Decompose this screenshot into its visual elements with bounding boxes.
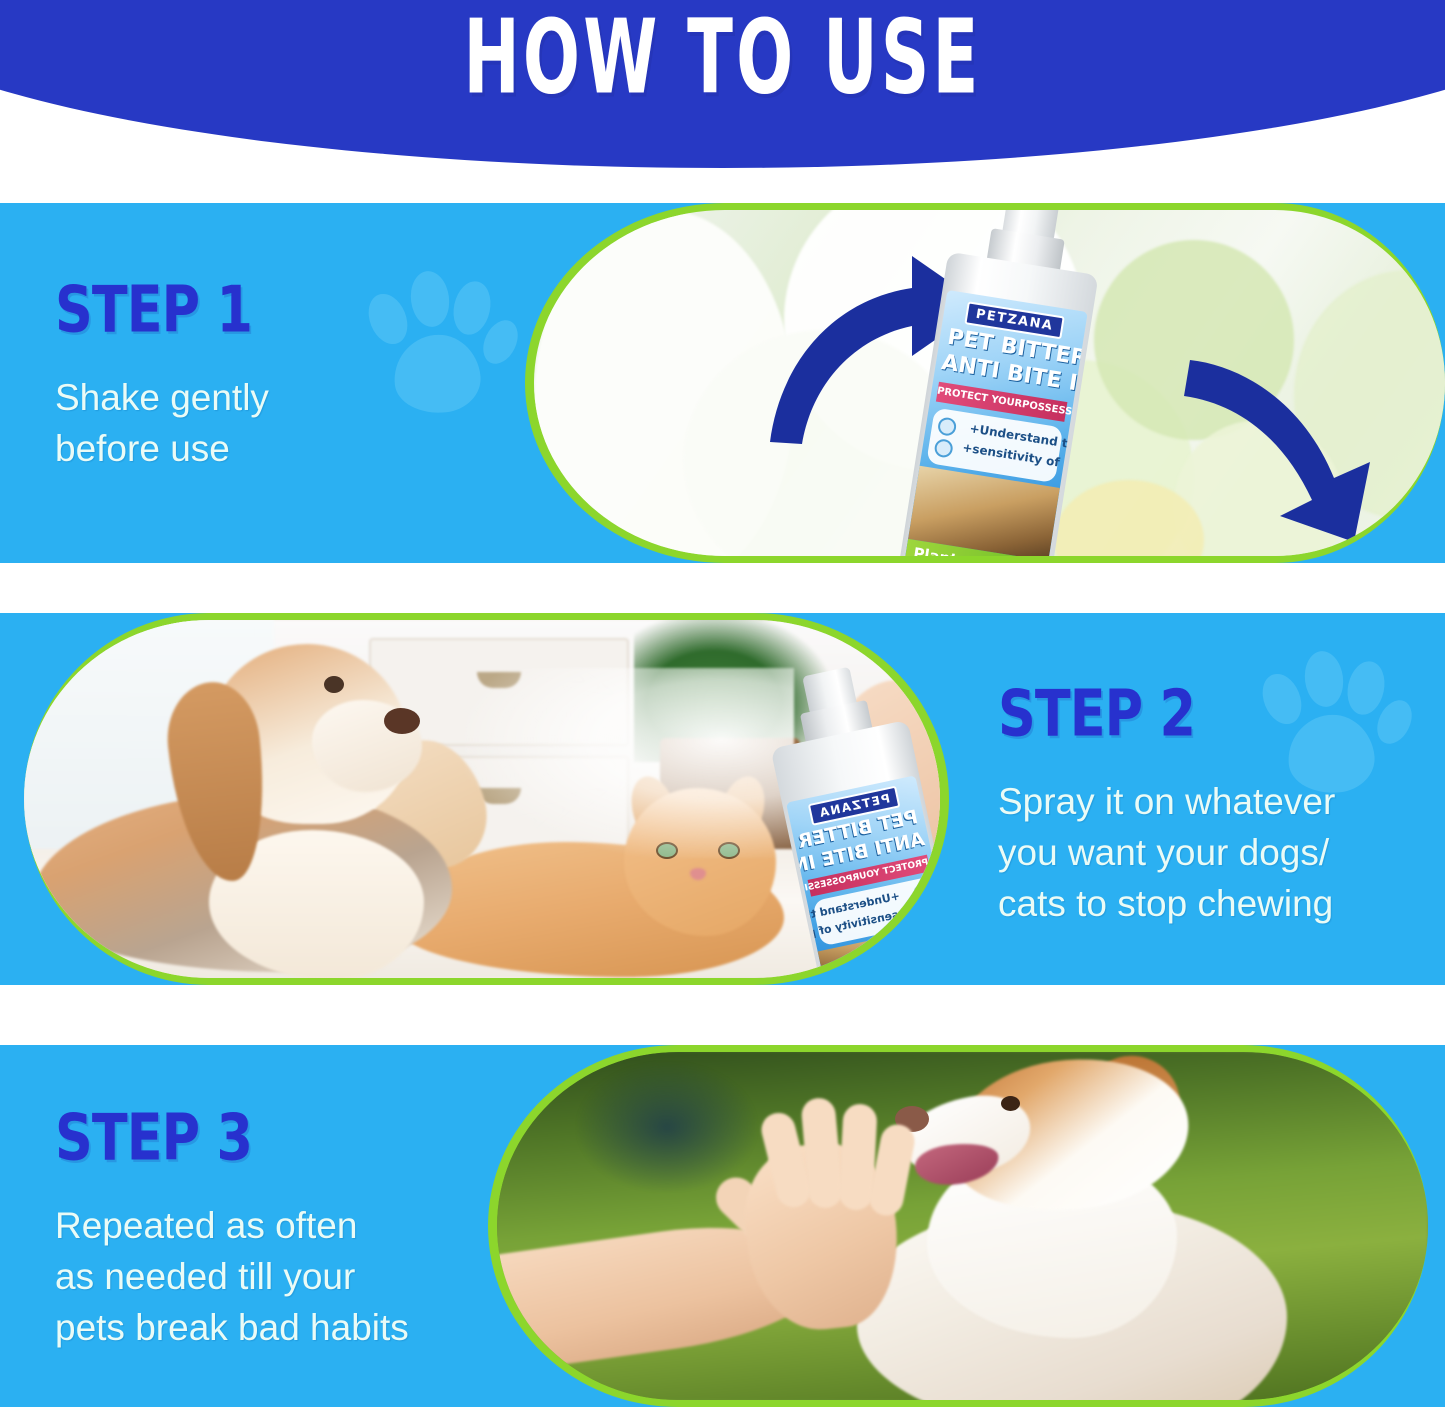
- step-1-description: Shake gently before use: [55, 372, 485, 474]
- step-2-description-line-1: Spray it on whatever: [998, 776, 1438, 827]
- page-title: HOW TO USE: [145, 6, 1301, 108]
- bottle-label: PETZANA PET BITTER TASTE ANTI BITE INDUC…: [904, 290, 1089, 563]
- step-2-section: PETZANA PET BITTER TASTE ANTI BITE INDUC…: [0, 613, 1445, 985]
- header-banner: HOW TO USE: [0, 0, 1445, 168]
- step-1-description-line-1: Shake gently: [55, 372, 485, 423]
- dog-eye: [324, 676, 344, 693]
- step-3-description-line-2: as needed till your: [55, 1251, 525, 1302]
- bottle-body: PETZANA PET BITTER TASTE ANTI BITE INDUC…: [898, 252, 1098, 563]
- bottle-body: PETZANA PET BITTER TASTE ANTI BITE INDUC…: [770, 720, 949, 985]
- step-3-section: STEP 3 Repeated as often as needed till …: [0, 1045, 1445, 1407]
- infographic-page: HOW TO USE STEP 1 Shake gently before us…: [0, 0, 1445, 1407]
- step-3-description: Repeated as often as needed till your pe…: [55, 1200, 525, 1353]
- dog-nose: [384, 708, 420, 734]
- shake-arrow-down-icon: [1184, 350, 1394, 550]
- step-3-description-line-1: Repeated as often: [55, 1200, 525, 1251]
- bottle-label: PETZANA PET BITTER TASTE ANTI BITE INDUC…: [786, 775, 949, 985]
- step-3-image: [488, 1045, 1428, 1407]
- step-2-image: PETZANA PET BITTER TASTE ANTI BITE INDUC…: [24, 613, 949, 985]
- step-1-image: PETZANA PET BITTER TASTE ANTI BITE INDUC…: [525, 203, 1445, 563]
- step-3-text-block: STEP 3 Repeated as often as needed till …: [55, 1107, 525, 1353]
- step-2-description-line-3: cats to stop chewing: [998, 878, 1438, 929]
- step-2-text-block: STEP 2 Spray it on whatever you want you…: [998, 683, 1438, 929]
- step-2-description-line-2: you want your dogs/: [998, 827, 1438, 878]
- step-2-label: STEP 2: [998, 683, 1403, 747]
- step-1-label: STEP 1: [55, 279, 451, 343]
- step-3-description-line-3: pets break bad habits: [55, 1302, 525, 1353]
- step-1-description-line-2: before use: [55, 423, 485, 474]
- step-1-text-block: STEP 1 Shake gently before use: [55, 279, 485, 474]
- step-3-label: STEP 3: [55, 1107, 487, 1171]
- bottle-net-content: NET CONT.: [963, 560, 1011, 563]
- step-2-description: Spray it on whatever you want your dogs/…: [998, 776, 1438, 929]
- bottle-net-content: NET CONT.: [865, 984, 908, 985]
- step-1-section: STEP 1 Shake gently before use: [0, 203, 1445, 563]
- dog-eye: [1001, 1096, 1020, 1111]
